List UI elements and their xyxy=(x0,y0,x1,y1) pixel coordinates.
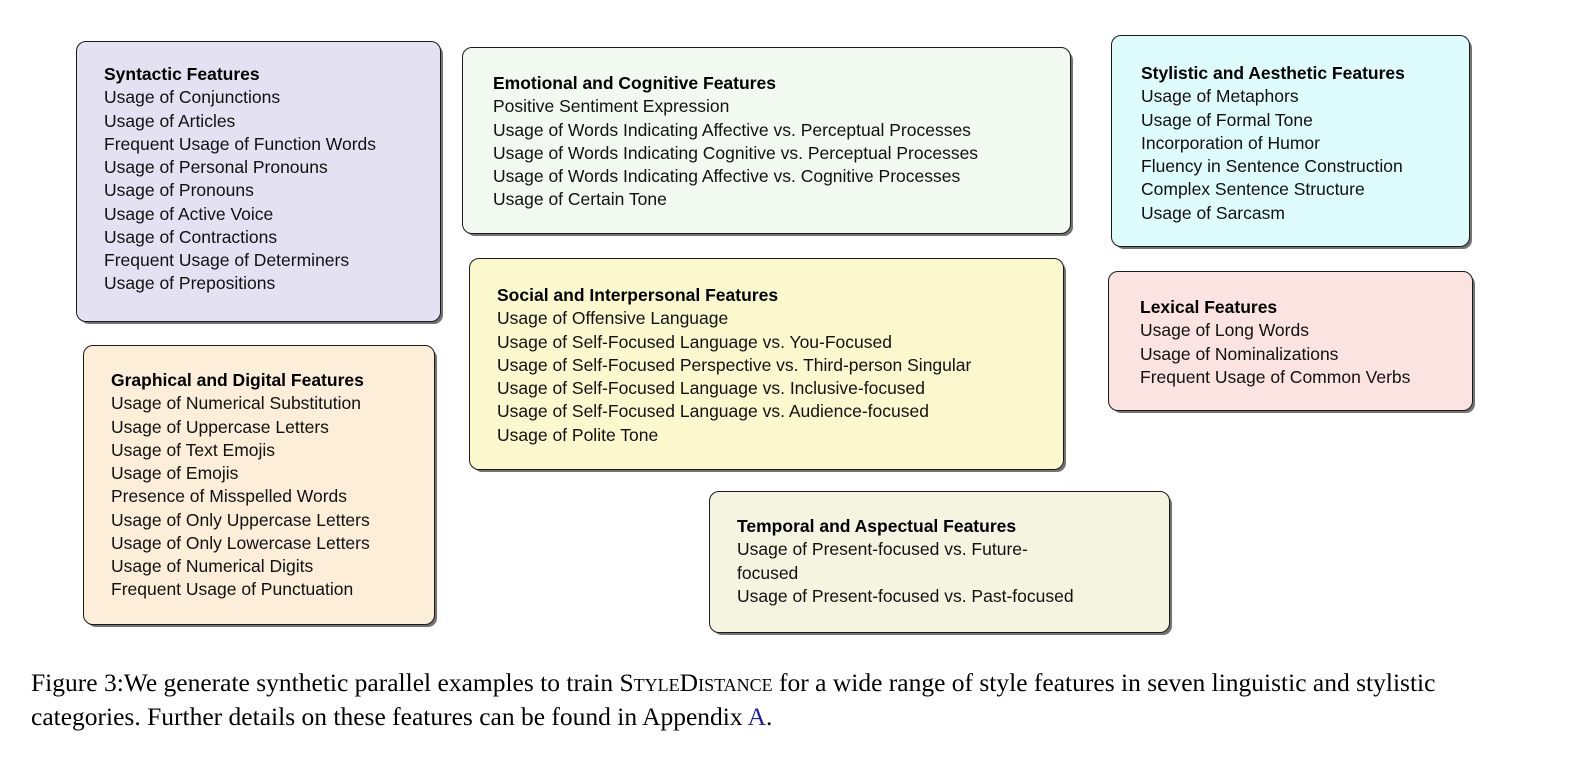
feature-item: Usage of Personal Pronouns xyxy=(104,156,440,179)
category-title: Lexical Features xyxy=(1140,296,1472,319)
feature-item: Usage of Numerical Digits xyxy=(111,555,434,578)
category-content: Graphical and Digital Features Usage of … xyxy=(84,346,434,602)
feature-item: Usage of Text Emojis xyxy=(111,439,434,462)
category-title: Emotional and Cognitive Features xyxy=(493,72,1070,95)
feature-item: Usage of Words Indicating Cognitive vs. … xyxy=(493,142,1070,165)
figure-canvas: Syntactic Features Usage of Conjunctions… xyxy=(0,0,1592,770)
category-box-temporal: Temporal and Aspectual Features Usage of… xyxy=(709,491,1170,633)
feature-item: Usage of Polite Tone xyxy=(497,424,1063,447)
category-box-graphical: Graphical and Digital Features Usage of … xyxy=(83,345,435,625)
category-content: Syntactic Features Usage of Conjunctions… xyxy=(77,42,440,296)
figure-caption: Figure 3:We generate synthetic parallel … xyxy=(31,666,1551,733)
feature-item: Frequent Usage of Determiners xyxy=(104,249,440,272)
category-title: Stylistic and Aesthetic Features xyxy=(1141,62,1469,85)
category-box-syntactic: Syntactic Features Usage of Conjunctions… xyxy=(76,41,441,322)
feature-item: Usage of Conjunctions xyxy=(104,86,440,109)
feature-item: Usage of Only Lowercase Letters xyxy=(111,532,434,555)
feature-item: Usage of Formal Tone xyxy=(1141,109,1469,132)
feature-item: Frequent Usage of Punctuation xyxy=(111,578,434,601)
category-content: Temporal and Aspectual Features Usage of… xyxy=(710,492,1169,608)
feature-item: Usage of Contractions xyxy=(104,226,440,249)
category-title: Social and Interpersonal Features xyxy=(497,284,1063,307)
feature-item: Usage of Long Words xyxy=(1140,319,1472,342)
category-title: Temporal and Aspectual Features xyxy=(737,515,1169,538)
category-title: Syntactic Features xyxy=(104,63,440,86)
feature-item: Usage of Metaphors xyxy=(1141,85,1469,108)
feature-item: Usage of Articles xyxy=(104,110,440,133)
category-box-stylistic: Stylistic and Aesthetic Features Usage o… xyxy=(1111,35,1470,247)
feature-item: Usage of Self-Focused Language vs. You-F… xyxy=(497,331,1063,354)
feature-item: Usage of Words Indicating Affective vs. … xyxy=(493,119,1070,142)
category-content: Emotional and Cognitive Features Positiv… xyxy=(463,48,1070,212)
feature-item: Presence of Misspelled Words xyxy=(111,485,434,508)
feature-item: Usage of Prepositions xyxy=(104,272,440,295)
feature-item: Usage of Numerical Substitution xyxy=(111,392,434,415)
feature-item: Usage of Uppercase Letters xyxy=(111,416,434,439)
feature-item: Fluency in Sentence Construction xyxy=(1141,155,1469,178)
feature-item: Usage of Offensive Language xyxy=(497,307,1063,330)
feature-item: Usage of Active Voice xyxy=(104,203,440,226)
category-box-social: Social and Interpersonal Features Usage … xyxy=(469,258,1064,470)
feature-item: Usage of Self-Focused Language vs. Audie… xyxy=(497,400,1063,423)
caption-text-end: . xyxy=(766,702,772,731)
category-title: Graphical and Digital Features xyxy=(111,369,434,392)
feature-item: Incorporation of Humor xyxy=(1141,132,1469,155)
category-box-emotional: Emotional and Cognitive Features Positiv… xyxy=(462,47,1071,234)
feature-item: Complex Sentence Structure xyxy=(1141,178,1469,201)
system-name: StyleDistance xyxy=(620,668,773,697)
feature-item: Usage of Nominalizations xyxy=(1140,343,1472,366)
category-box-lexical: Lexical Features Usage of Long Words Usa… xyxy=(1108,271,1473,411)
feature-item: Usage of Present-focused vs. Past-focuse… xyxy=(737,585,1169,608)
category-content: Stylistic and Aesthetic Features Usage o… xyxy=(1112,36,1469,225)
feature-item: Usage of Emojis xyxy=(111,462,434,485)
feature-item: Usage of Certain Tone xyxy=(493,188,1070,211)
feature-item: Usage of Words Indicating Affective vs. … xyxy=(493,165,1070,188)
feature-item: Usage of Only Uppercase Letters xyxy=(111,509,434,532)
feature-item: Usage of Sarcasm xyxy=(1141,202,1469,225)
category-content: Social and Interpersonal Features Usage … xyxy=(470,259,1063,447)
feature-item: Frequent Usage of Function Words xyxy=(104,133,440,156)
caption-text-part1: We generate synthetic parallel examples … xyxy=(124,668,620,697)
feature-item: Positive Sentiment Expression xyxy=(493,95,1070,118)
feature-item: Usage of Pronouns xyxy=(104,179,440,202)
feature-item: Usage of Self-Focused Language vs. Inclu… xyxy=(497,377,1063,400)
category-content: Lexical Features Usage of Long Words Usa… xyxy=(1109,272,1472,389)
figure-label: Figure 3: xyxy=(31,668,124,697)
feature-item: Usage of Self-Focused Perspective vs. Th… xyxy=(497,354,1063,377)
feature-item: Frequent Usage of Common Verbs xyxy=(1140,366,1472,389)
appendix-reference-link[interactable]: A xyxy=(748,702,766,731)
feature-item: Usage of Present-focused vs. Future-focu… xyxy=(737,538,1067,585)
